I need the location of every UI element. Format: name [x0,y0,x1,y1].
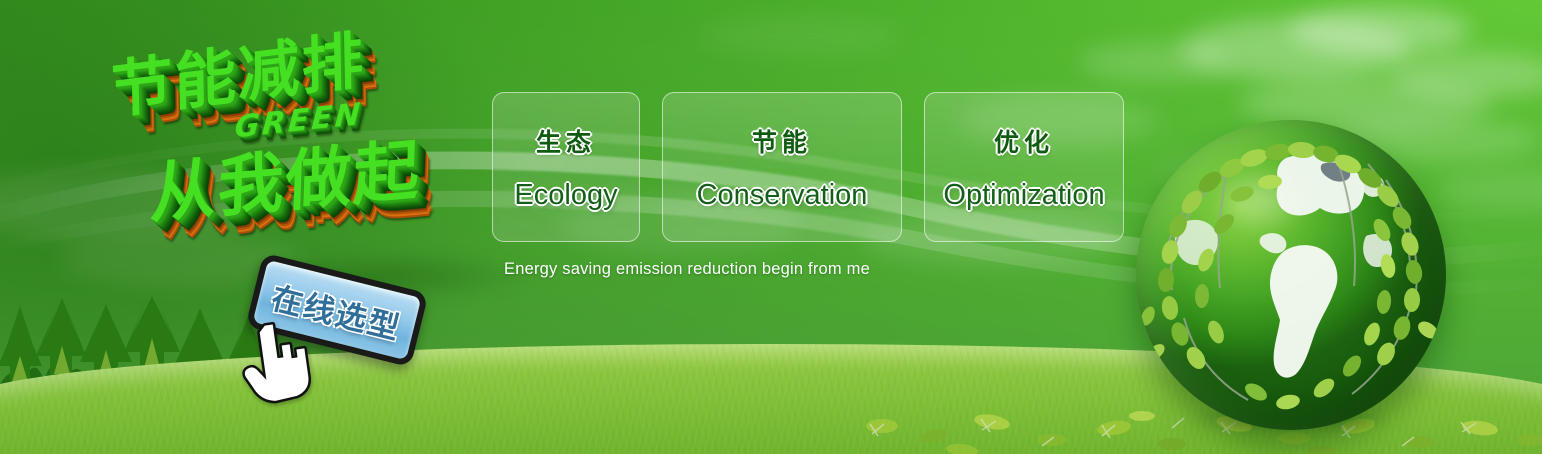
feature-cards: 生态 Ecology 节能 Conservation 优化 Optimizati… [492,92,1124,242]
feature-card-en-label: Conservation [697,179,868,212]
feature-card-cn-label: 生态 [536,123,596,159]
pointing-hand-cursor-icon [240,318,318,406]
hero-title-art: 节能减排 GREEN 从我做起 [96,36,488,268]
eco-promo-banner: 节能减排 GREEN 从我做起 生态 Ecology 节能 Conservati… [0,0,1542,454]
feature-card-conservation[interactable]: 节能 Conservation [662,92,902,242]
feature-card-ecology[interactable]: 生态 Ecology [492,92,640,242]
title-line-bottom: 从我做起 [149,116,423,236]
feature-card-cn-label: 优化 [994,123,1054,159]
leafy-earth-globe [1136,120,1446,430]
feature-card-optimization[interactable]: 优化 Optimization [924,92,1124,242]
feature-card-en-label: Ecology [514,179,617,212]
tagline-text: Energy saving emission reduction begin f… [504,260,870,279]
globe-leaf-canopy [1136,120,1446,430]
feature-card-cn-label: 节能 [752,123,812,159]
globe-sphere [1136,120,1446,430]
feature-card-en-label: Optimization [943,179,1104,212]
